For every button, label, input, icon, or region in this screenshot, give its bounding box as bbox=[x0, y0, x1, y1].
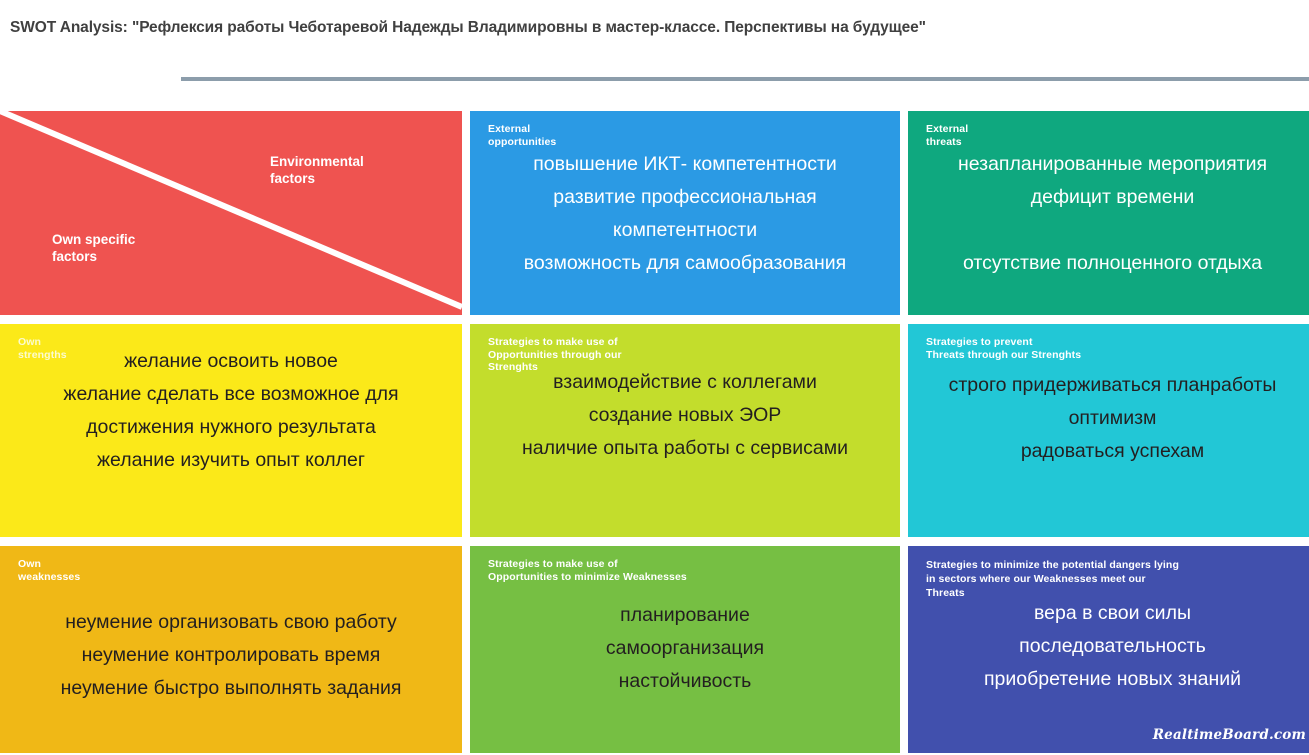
cell-line: настойчивость bbox=[470, 665, 900, 698]
cell-line: вера в свои силы bbox=[908, 597, 1309, 630]
cell-line: отсутствие полноценного отдыха bbox=[908, 247, 1309, 280]
cell-content: незапланированные мероприятия дефицит вр… bbox=[908, 148, 1309, 280]
cell-content: неумение организовать свою работу неумен… bbox=[0, 606, 462, 705]
cell-line: желание изучить опыт коллег bbox=[0, 444, 462, 477]
cell-content: вера в свои силы последовательность прио… bbox=[908, 597, 1309, 696]
cell-line: наличие опыта работы с сервисами bbox=[470, 432, 900, 465]
cell-line: развитие профессиональная bbox=[470, 181, 900, 214]
cell-corner-label: Strategies to minimize the potential dan… bbox=[926, 558, 1179, 600]
cell-own-strengths[interactable]: Own strengths желание освоить новое жела… bbox=[0, 324, 462, 537]
cell-content: желание освоить новое желание сделать вс… bbox=[0, 345, 462, 477]
header-divider bbox=[181, 77, 1309, 81]
cell-corner-label: External threats bbox=[926, 123, 968, 148]
own-specific-factors-label: Own specific factors bbox=[52, 231, 135, 265]
cell-strategies-st[interactable]: Strategies to prevent Threats through ou… bbox=[908, 324, 1309, 537]
cell-line: последовательность bbox=[908, 630, 1309, 663]
cell-line: строго придерживаться планработы bbox=[908, 369, 1309, 402]
cell-external-opportunities[interactable]: External opportunities повышение ИКТ- ко… bbox=[470, 111, 900, 315]
cell-content: повышение ИКТ- компетентности развитие п… bbox=[470, 148, 900, 280]
cell-line: неумение контролировать время bbox=[0, 639, 462, 672]
cell-line-spacer bbox=[908, 214, 1309, 247]
cell-line: желание освоить новое bbox=[0, 345, 462, 378]
cell-external-threats[interactable]: External threats незапланированные мероп… bbox=[908, 111, 1309, 315]
cell-line: повышение ИКТ- компетентности bbox=[470, 148, 900, 181]
cell-line: дефицит времени bbox=[908, 181, 1309, 214]
diagonal-divider-line bbox=[0, 111, 462, 315]
cell-corner-label: Own weaknesses bbox=[18, 558, 80, 583]
cell-line: создание новых ЭОР bbox=[470, 399, 900, 432]
cell-corner-label: External opportunities bbox=[488, 123, 556, 148]
cell-line: приобретение новых знаний bbox=[908, 663, 1309, 696]
cell-line: желание сделать все возможное для bbox=[0, 378, 462, 411]
cell-corner-label: Strategies to make use of Opportunities … bbox=[488, 558, 687, 583]
page-title: SWOT Analysis: "Рефлексия работы Чеботар… bbox=[10, 19, 926, 37]
cell-own-weaknesses[interactable]: Own weaknesses неумение организовать сво… bbox=[0, 546, 462, 753]
cell-content: взаимодействие с коллегами создание новы… bbox=[470, 366, 900, 465]
cell-line: радоваться успехам bbox=[908, 435, 1309, 468]
cell-line: неумение организовать свою работу bbox=[0, 606, 462, 639]
cell-line: оптимизм bbox=[908, 402, 1309, 435]
cell-line: неумение быстро выполнять задания bbox=[0, 672, 462, 705]
cell-line: возможность для самообразования bbox=[470, 247, 900, 280]
cell-corner-label: Strategies to prevent Threats through ou… bbox=[926, 336, 1081, 361]
cell-line: взаимодействие с коллегами bbox=[470, 366, 900, 399]
swot-matrix: Environmental factors Own specific facto… bbox=[0, 111, 1309, 755]
cell-strategies-wt[interactable]: Strategies to minimize the potential dan… bbox=[908, 546, 1309, 753]
matrix-axis-header-cell[interactable]: Environmental factors Own specific facto… bbox=[0, 111, 462, 315]
realtimeboard-watermark: RealtimeBoard.com bbox=[1153, 727, 1306, 743]
cell-strategies-wo[interactable]: Strategies to make use of Opportunities … bbox=[470, 546, 900, 753]
cell-line: незапланированные мероприятия bbox=[908, 148, 1309, 181]
cell-content: планирование самоорганизация настойчивос… bbox=[470, 599, 900, 698]
page-header: SWOT Analysis: "Рефлексия работы Чеботар… bbox=[0, 0, 1309, 108]
cell-line: планирование bbox=[470, 599, 900, 632]
cell-content: строго придерживаться планработы оптимиз… bbox=[908, 369, 1309, 468]
environmental-factors-label: Environmental factors bbox=[270, 153, 364, 187]
cell-strategies-so[interactable]: Strategies to make use of Opportunities … bbox=[470, 324, 900, 537]
cell-line: достижения нужного результата bbox=[0, 411, 462, 444]
cell-line: компетентности bbox=[470, 214, 900, 247]
cell-line: самоорганизация bbox=[470, 632, 900, 665]
